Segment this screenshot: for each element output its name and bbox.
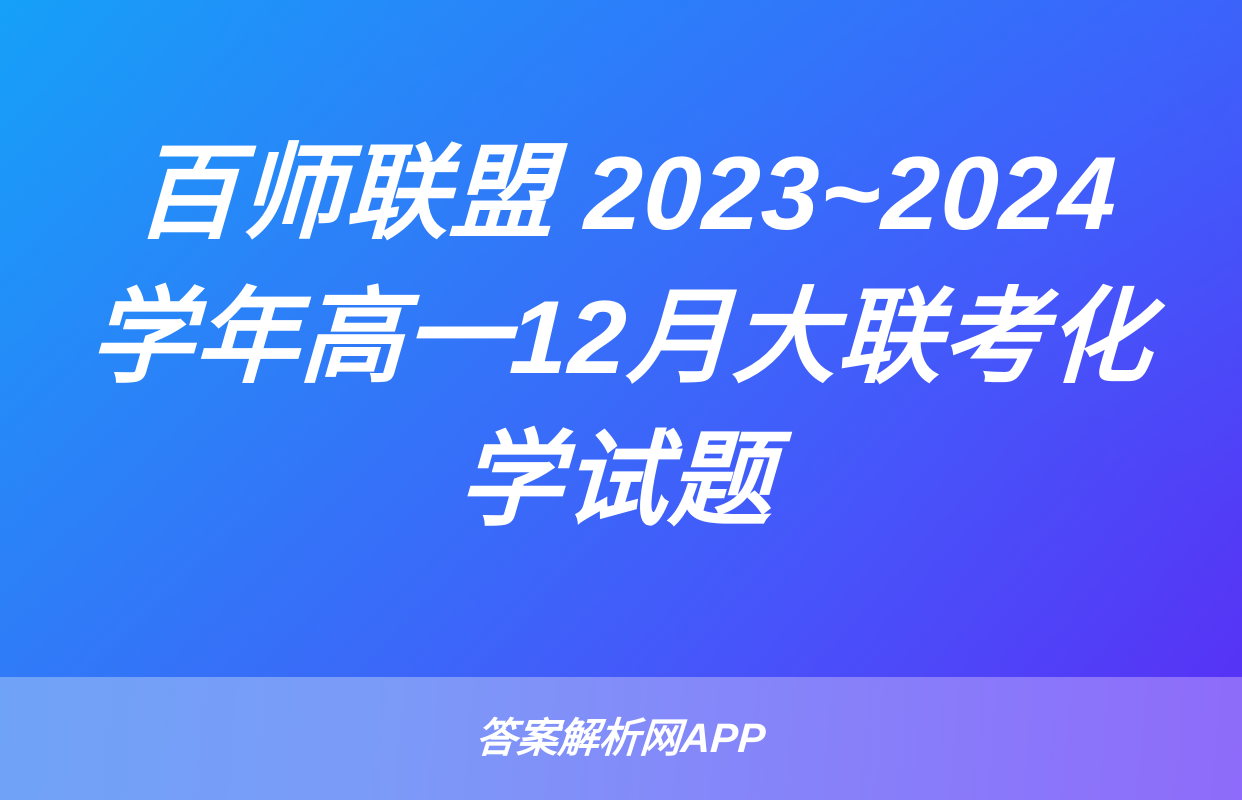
page-title: 百师联盟 2023~2024学年高一12月大联考化学试题: [76, 123, 1165, 554]
hero-title-container: 百师联盟 2023~2024学年高一12月大联考化学试题: [76, 123, 1166, 554]
app-watermark-label: 答案解析网APP: [475, 718, 767, 759]
footer-watermark-band: 答案解析网APP: [0, 677, 1242, 800]
hero-gradient-banner: 百师联盟 2023~2024学年高一12月大联考化学试题: [0, 0, 1242, 677]
exam-poster-card: 百师联盟 2023~2024学年高一12月大联考化学试题 答案解析网APP: [0, 0, 1242, 800]
